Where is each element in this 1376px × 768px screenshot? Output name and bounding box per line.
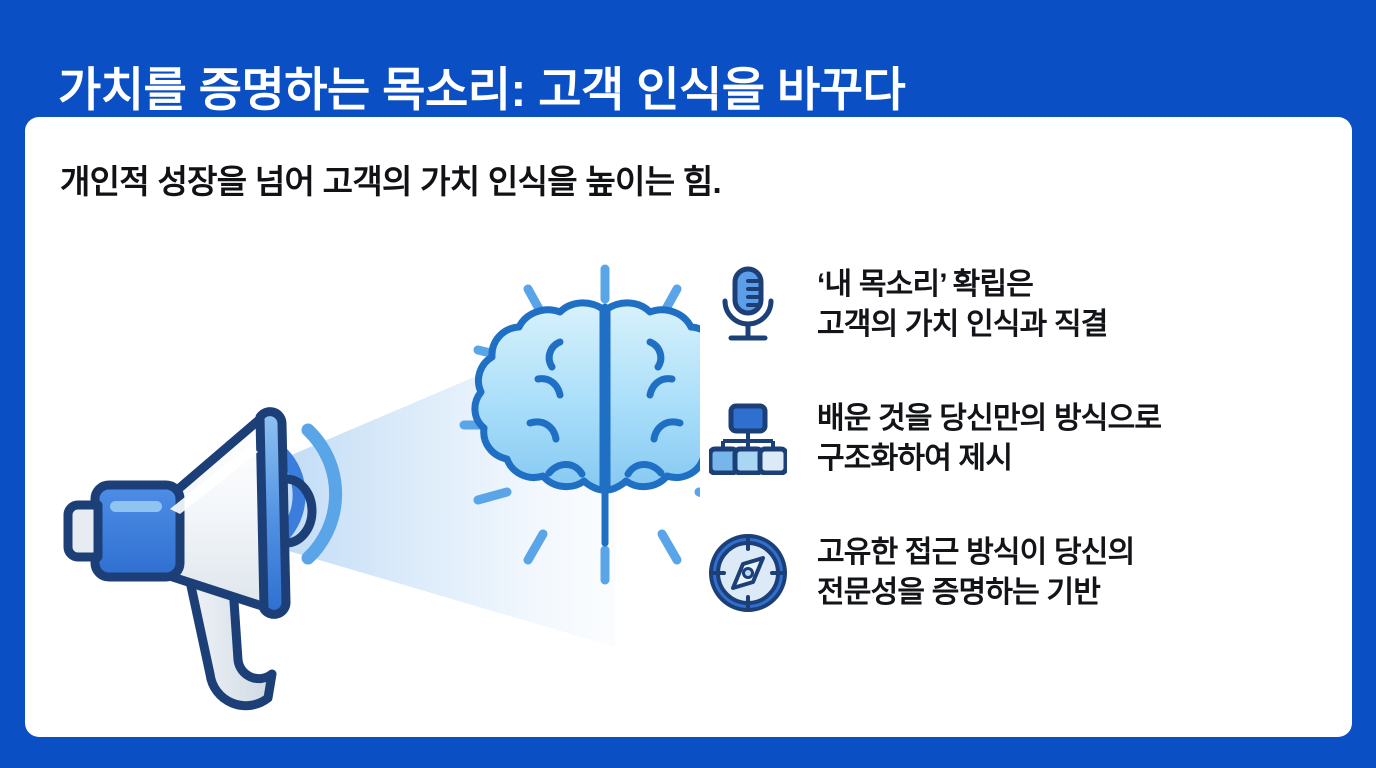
content-card: 개인적 성장을 넘어 고객의 가치 인식을 높이는 힘.: [25, 117, 1352, 737]
list-item-text: ‘내 목소리’ 확립은 고객의 가치 인식과 직결: [817, 265, 1108, 344]
card-subtitle: 개인적 성장을 넘어 고객의 가치 인식을 높이는 힘.: [60, 155, 721, 203]
megaphone-icon: [68, 412, 312, 706]
megaphone-to-brain-illustration: [60, 247, 700, 717]
list-item-text: 고유한 접근 방식이 당신의 전문성을 증명하는 기반: [817, 533, 1134, 612]
list-item: 배운 것을 당신만의 방식으로 구조화하여 제시: [705, 391, 1325, 487]
list-item: 고유한 접근 방식이 당신의 전문성을 증명하는 기반: [705, 525, 1325, 621]
slide-root: 가치를 증명하는 목소리: 고객 인식을 바꾸다 개인적 성장을 넘어 고객의 …: [0, 0, 1376, 768]
compass-icon: [705, 530, 791, 616]
org-chart-icon: [705, 396, 791, 482]
microphone-icon: [705, 262, 791, 348]
list-item-text: 배운 것을 당신만의 방식으로 구조화하여 제시: [817, 399, 1161, 478]
page-title: 가치를 증명하는 목소리: 고객 인식을 바꾸다: [58, 53, 1338, 125]
bullet-list: ‘내 목소리’ 확립은 고객의 가치 인식과 직결: [705, 257, 1325, 659]
list-item: ‘내 목소리’ 확립은 고객의 가치 인식과 직결: [705, 257, 1325, 353]
